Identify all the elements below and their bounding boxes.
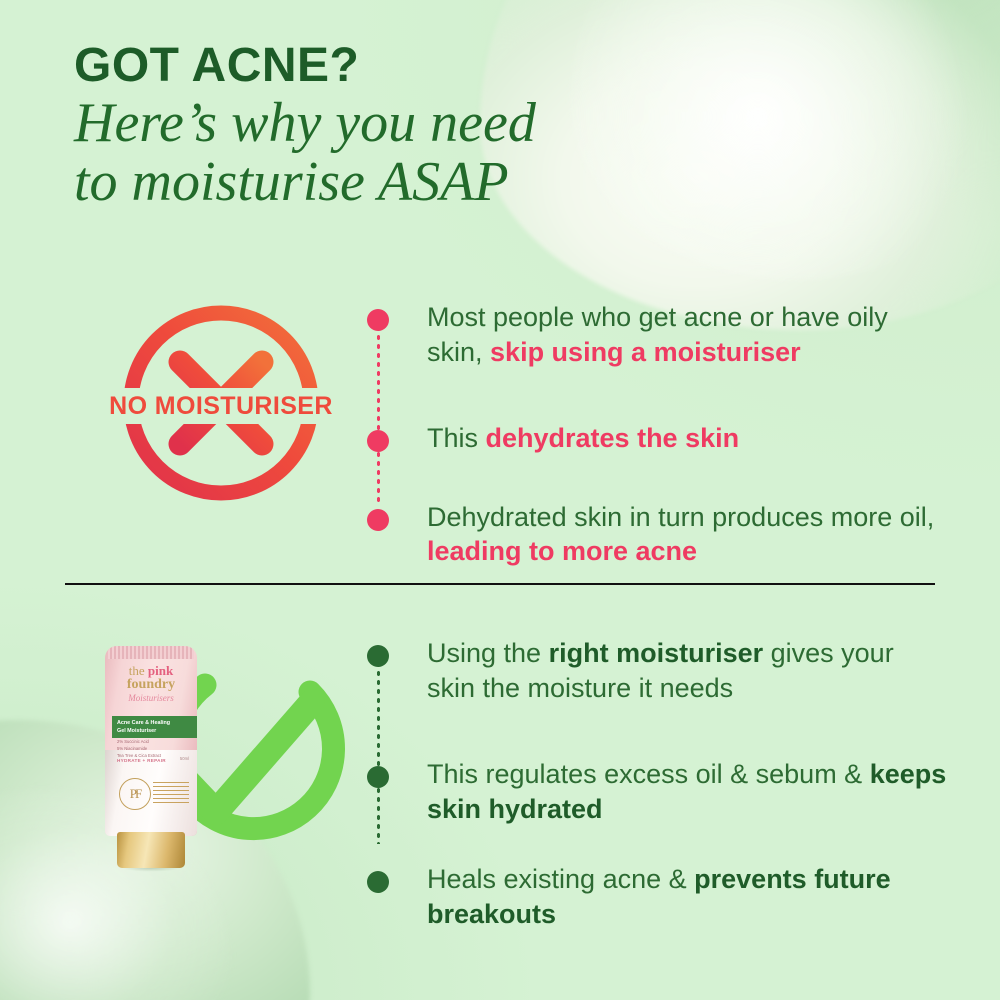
tube-body: the pink foundry Moisturisers Acne Care … (105, 646, 197, 836)
bad-point-2: This dehydrates the skin (427, 421, 739, 456)
title-line-1: GOT ACNE? (74, 42, 774, 90)
good-point-3: Heals existing acne & prevents future br… (427, 862, 947, 931)
brand-line-2: foundry (105, 678, 197, 693)
connector-dotted-pink (377, 324, 380, 504)
list-item: This regulates excess oil & sebum & keep… (367, 757, 947, 826)
brand-category: Moisturisers (105, 694, 197, 703)
bad-point-1: Most people who get acne or have oily sk… (427, 300, 947, 369)
connector-dotted-green (377, 660, 380, 844)
bullet-dot-icon (367, 645, 389, 667)
infographic-poster: GOT ACNE? Here’s why you need to moistur… (0, 0, 1000, 1000)
list-item: Dehydrated skin in turn produces more oi… (367, 500, 947, 569)
good-point-1: Using the right moisturiser gives your s… (427, 636, 947, 705)
product-name: Acne Care & Healing Gel Moisturiser (112, 716, 197, 738)
list-item: Using the right moisturiser gives your s… (367, 636, 947, 705)
bullet-dot-icon (367, 871, 389, 893)
bullet-dot-icon (367, 309, 389, 331)
brand-line-1: the pink (105, 664, 197, 678)
bad-point-3: Dehydrated skin in turn produces more oi… (427, 500, 947, 569)
bullet-dot-icon (367, 509, 389, 531)
list-item: This dehydrates the skin (367, 421, 947, 456)
product-claim: HYDRATE + REPAIR (117, 758, 166, 763)
brand-monogram-icon: PF (119, 778, 151, 810)
section-divider (65, 583, 935, 585)
list-item: Heals existing acne & prevents future br… (367, 862, 947, 931)
tube-cap (117, 832, 185, 868)
page-title: GOT ACNE? Here’s why you need to moistur… (74, 42, 774, 213)
bad-points-list: Most people who get acne or have oily sk… (367, 300, 947, 569)
list-item: Most people who get acne or have oily sk… (367, 300, 947, 369)
bullet-dot-icon (367, 430, 389, 452)
title-line-2: Here’s why you need to moisturise ASAP (74, 94, 774, 213)
no-moisturiser-badge: NO MOISTURISER (118, 300, 324, 506)
product-ingredients: 2% Succinic Acid 5% Niacinamide Tea Tree… (117, 739, 187, 760)
no-moisturiser-label: NO MOISTURISER (82, 388, 360, 424)
good-point-2: This regulates excess oil & sebum & keep… (427, 757, 947, 826)
tube-stripes (153, 782, 189, 806)
good-points-list: Using the right moisturiser gives your s… (367, 636, 947, 931)
product-tube: the pink foundry Moisturisers Acne Care … (105, 636, 197, 868)
tube-seam (108, 646, 194, 659)
product-net-weight: 50ml (180, 756, 189, 762)
tube-brand: the pink foundry Moisturisers (105, 664, 197, 703)
bullet-dot-icon (367, 766, 389, 788)
